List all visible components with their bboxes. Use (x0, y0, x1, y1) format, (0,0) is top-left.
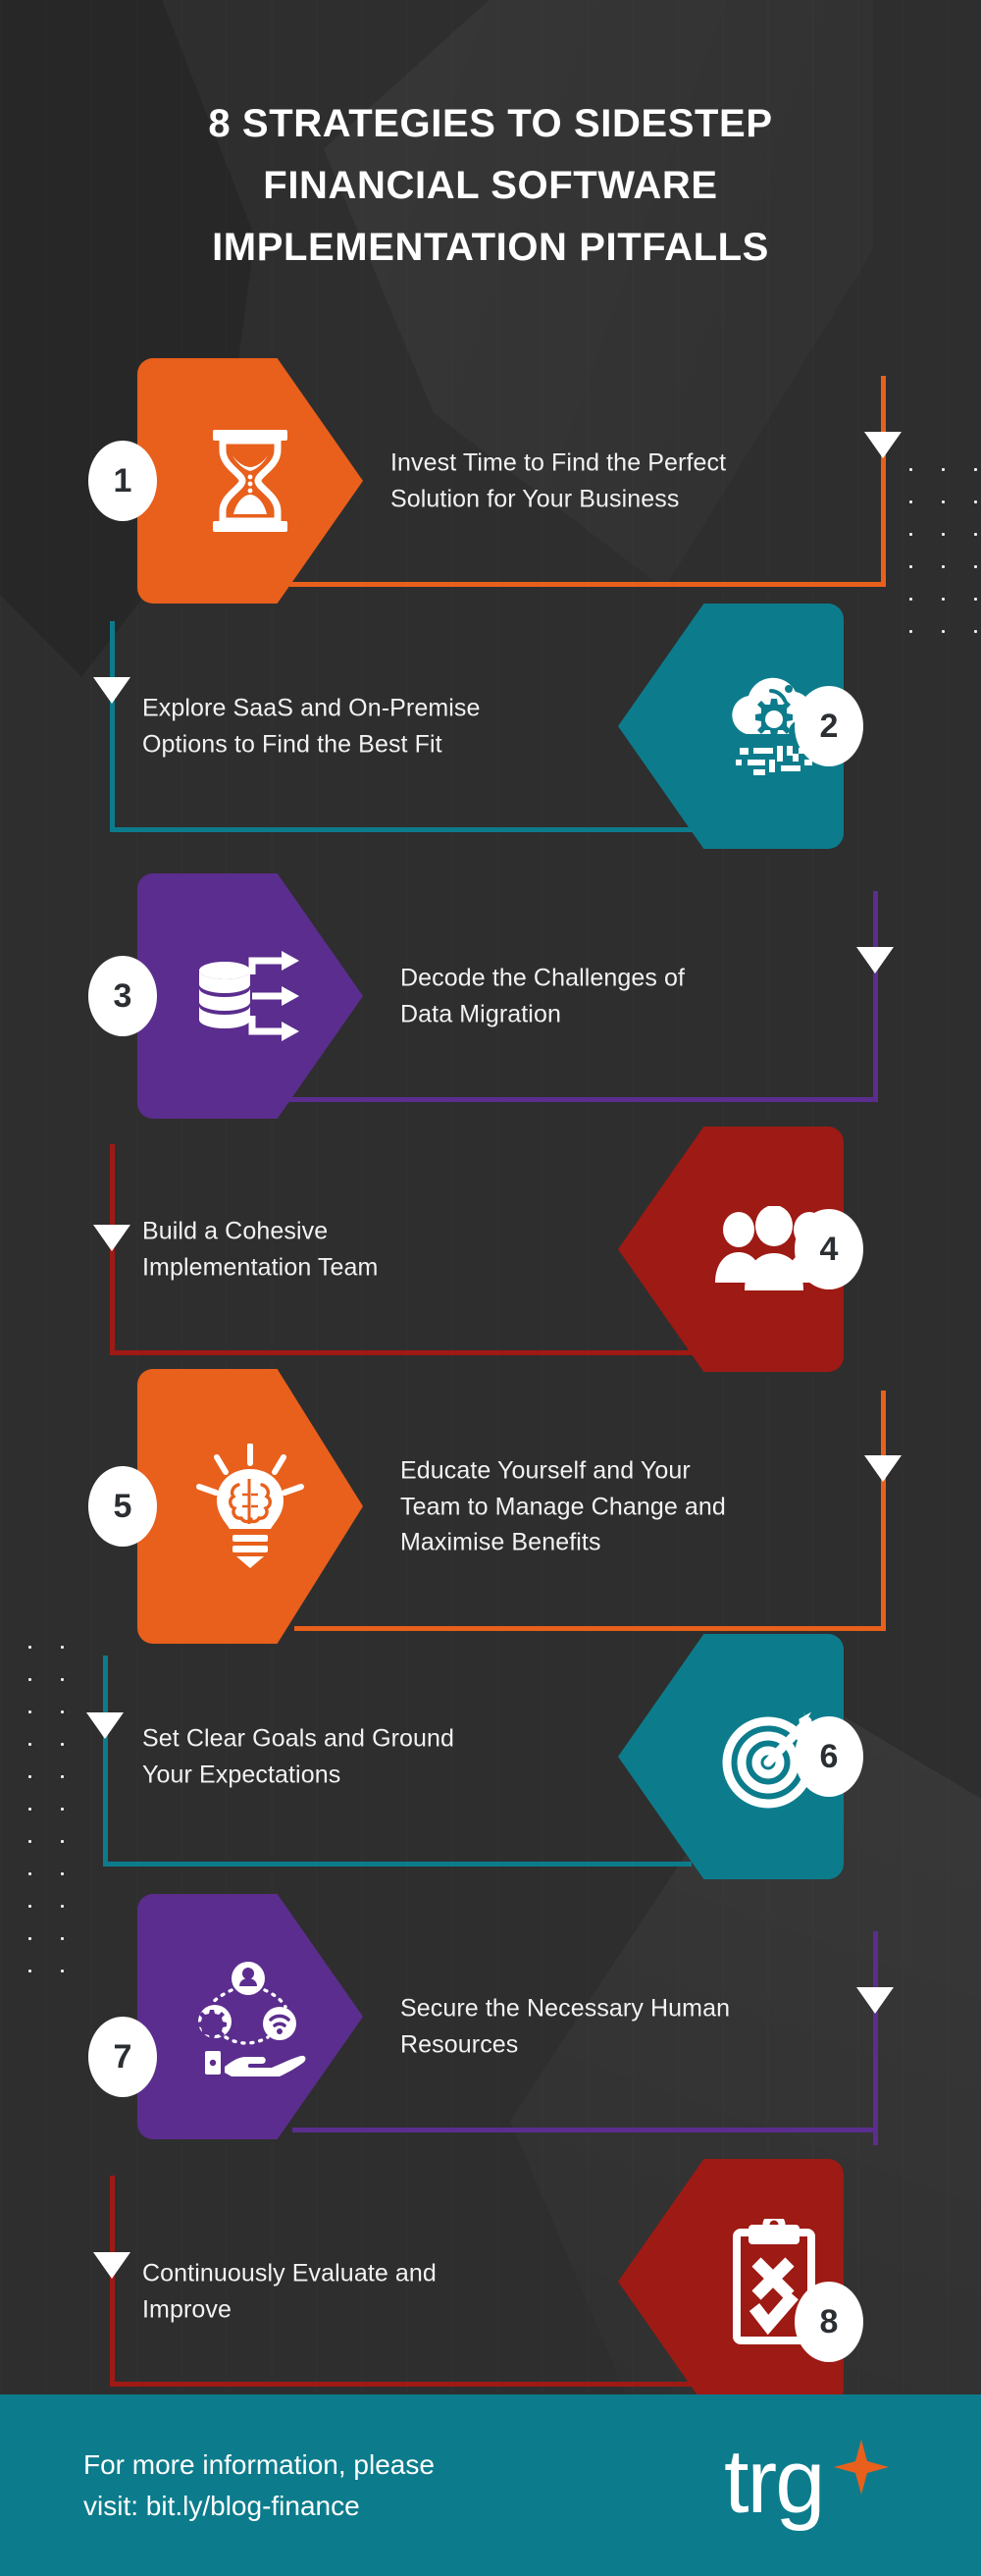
step-text-6: Set Clear Goals and Ground Your Expectat… (142, 1721, 603, 1793)
connector-horizontal-8 (110, 2382, 706, 2387)
connector-arrow-6 (86, 1712, 124, 1739)
step-item-7[interactable]: 7 Secure the Necessary Human Resources (0, 1884, 981, 2149)
step-text-3-line-2: Data Migration (400, 996, 861, 1032)
connector-arrow-4 (93, 1225, 130, 1251)
connector-horizontal-5 (294, 1626, 886, 1631)
step-number-badge-6: 6 (795, 1716, 863, 1797)
step-text-3-line-1: Decode the Challenges of (400, 961, 861, 997)
step-text-2-line-1: Explore SaaS and On-Premise (142, 691, 613, 727)
step-number-badge-4: 4 (795, 1209, 863, 1289)
step-text-2-line-2: Options to Find the Best Fit (142, 726, 613, 762)
connector-horizontal-6 (103, 1862, 692, 1866)
database-migration-icon (137, 945, 406, 1047)
hourglass-icon (137, 428, 406, 534)
step-text-2: Explore SaaS and On-Premise Options to F… (142, 691, 613, 762)
step-text-7-line-1: Secure the Necessary Human (400, 1991, 891, 2027)
connector-vertical-2 (110, 621, 115, 832)
step-text-5-line-3: Maximise Benefits (400, 1524, 891, 1560)
step-text-7: Secure the Necessary Human Resources (400, 1991, 891, 2063)
step-text-5-line-1: Educate Yourself and Your (400, 1452, 891, 1489)
step-text-8: Continuously Evaluate and Improve (142, 2256, 584, 2328)
connector-horizontal-2 (110, 827, 706, 832)
step-text-1: Invest Time to Find the Perfect Solution… (390, 446, 861, 517)
lightbulb-brain-icon (137, 1444, 406, 1569)
step-item-3[interactable]: 3 Decode the Challenges of Data Migratio… (0, 873, 981, 1119)
step-hex-1[interactable] (137, 358, 363, 604)
connector-vertical-6 (103, 1656, 108, 1866)
page-title: 8 STRATEGIES TO SIDESTEP FINANCIAL SOFTW… (0, 93, 981, 280)
step-text-7-line-2: Resources (400, 2026, 891, 2063)
step-item-2[interactable]: 2 Explore SaaS and On-Premise Options to… (0, 604, 981, 849)
step-text-8-line-1: Continuously Evaluate and (142, 2256, 584, 2292)
hand-hr-network-icon (137, 1957, 406, 2077)
step-hex-5[interactable] (137, 1369, 363, 1644)
step-number-badge-7: 7 (88, 2017, 157, 2097)
connector-horizontal-4 (110, 1350, 706, 1355)
title-line-2: FINANCIAL SOFTWARE (0, 155, 981, 217)
title-line-3: IMPLEMENTATION PITFALLS (0, 217, 981, 279)
step-number-badge-8: 8 (795, 2282, 863, 2362)
connector-horizontal-3 (289, 1097, 878, 1102)
step-number-badge-2: 2 (795, 686, 863, 766)
step-text-6-line-2: Your Expectations (142, 1757, 603, 1793)
step-text-4-line-2: Implementation Team (142, 1249, 554, 1286)
infographic-root: 8 STRATEGIES TO SIDESTEP FINANCIAL SOFTW… (0, 0, 981, 2576)
step-text-6-line-1: Set Clear Goals and Ground (142, 1721, 603, 1758)
connector-arrow-5 (864, 1455, 902, 1482)
step-text-1-line-2: Solution for Your Business (390, 481, 861, 517)
connector-arrow-3 (856, 947, 894, 973)
footer-line-1: For more information, please (83, 2445, 435, 2486)
connector-arrow-1 (864, 432, 902, 458)
step-item-4[interactable]: 4 Build a Cohesive Implementation Team (0, 1127, 981, 1372)
connector-vertical-8 (110, 2176, 115, 2387)
connector-horizontal-7 (292, 2128, 876, 2132)
footer-bar: For more information, please visit: bit.… (0, 2394, 981, 2576)
step-number-badge-5: 5 (88, 1466, 157, 1547)
step-text-4: Build a Cohesive Implementation Team (142, 1214, 554, 1286)
step-item-1[interactable]: 1 Invest Time to Find the Perfect Soluti… (0, 358, 981, 604)
orange-four-point-star-icon (834, 2440, 889, 2495)
step-text-5: Educate Yourself and Your Team to Manage… (400, 1452, 891, 1560)
footer-cta-text: For more information, please visit: bit.… (83, 2445, 435, 2527)
step-number-badge-1: 1 (88, 441, 157, 521)
step-text-8-line-2: Improve (142, 2291, 584, 2328)
step-item-5[interactable]: 5 Educate Yourself and Your Team to Mana… (0, 1369, 981, 1644)
step-text-4-line-1: Build a Cohesive (142, 1214, 554, 1250)
connector-vertical-3 (873, 891, 878, 1102)
connector-arrow-2 (93, 677, 130, 704)
step-hex-3[interactable] (137, 873, 363, 1119)
title-line-1: 8 STRATEGIES TO SIDESTEP (0, 93, 981, 155)
trg-logo-wordmark: trg (724, 2432, 823, 2532)
step-text-5-line-2: Team to Manage Change and (400, 1489, 891, 1525)
step-text-3: Decode the Challenges of Data Migration (400, 961, 861, 1032)
step-hex-7[interactable] (137, 1894, 363, 2139)
connector-arrow-8 (93, 2252, 130, 2279)
trg-logo[interactable]: trg (724, 2432, 891, 2540)
connector-arrow-7 (856, 1987, 894, 2014)
step-hex-8[interactable] (618, 2159, 844, 2404)
step-item-6[interactable]: 6 Set Clear Goals and Ground Your Expect… (0, 1634, 981, 1879)
connector-vertical-1 (881, 376, 886, 587)
footer-line-2[interactable]: visit: bit.ly/blog-finance (83, 2486, 435, 2527)
step-item-8[interactable]: 8 Continuously Evaluate and Improve (0, 2134, 981, 2399)
step-text-1-line-1: Invest Time to Find the Perfect (390, 446, 861, 482)
step-number-badge-3: 3 (88, 956, 157, 1036)
connector-horizontal-1 (289, 582, 886, 587)
